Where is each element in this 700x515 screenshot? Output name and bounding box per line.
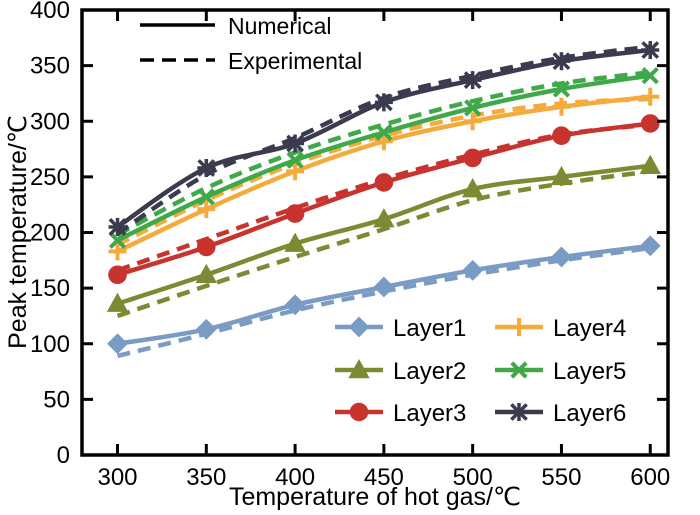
y-tick-label: 100 bbox=[30, 331, 70, 358]
series-legend: Layer1Layer4Layer2Layer5Layer3Layer6 bbox=[335, 315, 626, 427]
line-style-legend-label: Experimental bbox=[228, 48, 362, 74]
legend-label: Layer1 bbox=[393, 315, 466, 342]
series-layer bbox=[109, 41, 660, 356]
data-point-marker bbox=[351, 404, 368, 421]
y-axis-title: Peak temperature/℃ bbox=[4, 115, 32, 349]
legend-item-layer2: Layer2 bbox=[335, 358, 466, 385]
y-tick-label: 0 bbox=[57, 442, 70, 469]
data-point-marker bbox=[350, 318, 368, 336]
data-point-marker bbox=[376, 174, 393, 191]
legend-item-layer6: Layer6 bbox=[495, 400, 626, 427]
legend-item-layer1: Layer1 bbox=[335, 315, 466, 342]
legend-label: Layer3 bbox=[393, 400, 466, 427]
data-point-marker bbox=[464, 150, 481, 167]
y-tick-label: 350 bbox=[30, 53, 70, 80]
y-tick-label: 250 bbox=[30, 164, 70, 191]
y-tick-label: 50 bbox=[43, 386, 70, 413]
legend-item-layer5: Layer5 bbox=[495, 358, 626, 385]
plot-frame bbox=[82, 10, 668, 455]
x-axis-title: Temperature of hot gas/℃ bbox=[229, 483, 521, 511]
y-tick-label: 300 bbox=[30, 108, 70, 135]
y-tick-label: 200 bbox=[30, 220, 70, 247]
line-style-legend-label: Numerical bbox=[228, 13, 332, 39]
data-point-marker bbox=[287, 205, 304, 222]
legend-label: Layer6 bbox=[553, 400, 626, 427]
data-point-marker bbox=[641, 237, 659, 255]
x-tick-label: 550 bbox=[541, 464, 581, 491]
legend-item-layer3: Layer3 bbox=[335, 400, 466, 427]
data-point-marker bbox=[375, 278, 393, 296]
line-style-legend: NumericalExperimental bbox=[140, 13, 362, 74]
legend-label: Layer4 bbox=[553, 315, 626, 342]
x-tick-label: 300 bbox=[97, 464, 137, 491]
chart-container: 3003504004505005506000501001502002503003… bbox=[0, 0, 700, 515]
line-chart: 3003504004505005506000501001502002503003… bbox=[0, 0, 700, 515]
data-point-marker bbox=[198, 239, 215, 256]
data-point-marker bbox=[109, 266, 126, 283]
legend-label: Layer2 bbox=[393, 358, 466, 385]
y-tick-label: 400 bbox=[30, 0, 70, 24]
x-tick-label: 350 bbox=[186, 464, 226, 491]
data-point-marker bbox=[642, 115, 659, 132]
data-point-marker bbox=[109, 335, 127, 353]
legend-label: Layer5 bbox=[553, 358, 626, 385]
legend-item-layer4: Layer4 bbox=[495, 315, 626, 342]
data-point-marker bbox=[553, 127, 570, 144]
y-tick-label: 150 bbox=[30, 275, 70, 302]
x-tick-label: 600 bbox=[630, 464, 670, 491]
